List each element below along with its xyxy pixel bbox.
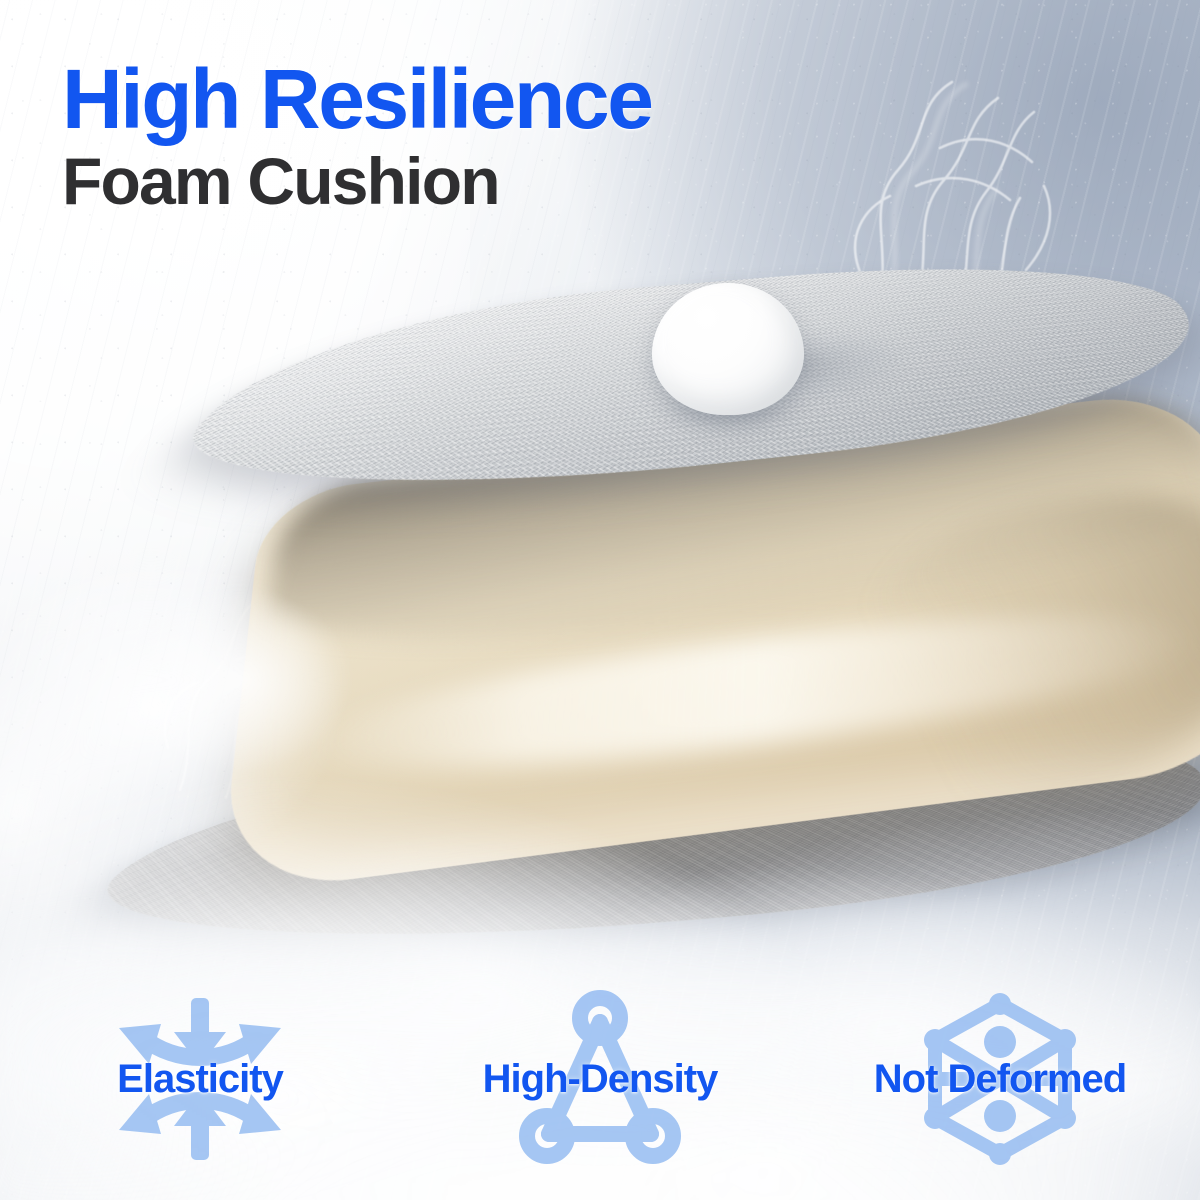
product-marketing-image: High Resilience Foam Cushion [0, 0, 1200, 1200]
headline-block: High Resilience Foam Cushion [62, 58, 652, 214]
resilience-ball [652, 283, 804, 415]
headline-secondary: Foam Cushion [62, 148, 652, 214]
feature-not-deformed: Not Deformed [800, 974, 1200, 1184]
feature-label-elasticity: Elasticity [117, 1057, 283, 1102]
headline-primary: High Resilience [62, 58, 652, 140]
feature-strip: Elasticity High-Density [0, 974, 1200, 1184]
feature-elasticity: Elasticity [0, 974, 400, 1184]
feature-label-not-deformed: Not Deformed [874, 1057, 1126, 1102]
feature-label-high-density: High-Density [483, 1057, 718, 1102]
feature-high-density: High-Density [400, 974, 800, 1184]
